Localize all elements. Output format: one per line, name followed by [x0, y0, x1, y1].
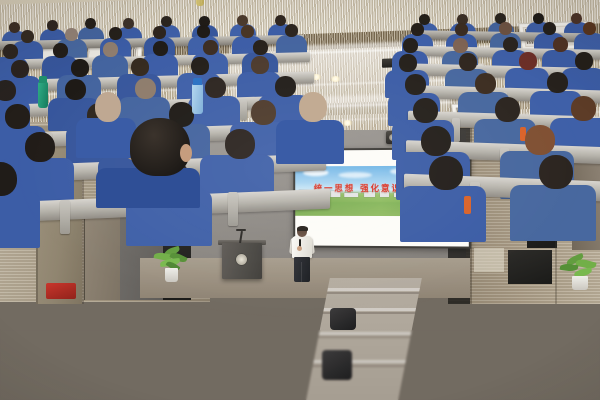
acoustic-panel-right-lower — [508, 250, 552, 284]
potted-plant — [560, 256, 600, 290]
armrest — [500, 148, 509, 150]
presenter-shirt — [292, 236, 312, 258]
side-door-left[interactable] — [84, 208, 122, 300]
green-thermos-bottle — [38, 82, 48, 108]
beverage-cup — [196, 0, 204, 6]
bottle-cap — [39, 76, 47, 83]
presenter — [289, 226, 315, 282]
recessed-downlight — [330, 76, 341, 82]
auditorium-photo: 中国石化集团有限公司 统一思想 强化意识 确保安全 — [0, 0, 600, 400]
water-bottle — [192, 84, 203, 114]
armrest — [240, 100, 247, 120]
red-bag — [46, 283, 76, 299]
potted-plant — [152, 248, 192, 282]
wall-inset-right — [474, 248, 504, 272]
lectern-emblem-icon — [236, 254, 247, 265]
recessed-downlight — [342, 120, 353, 126]
bottle-cap — [193, 78, 202, 85]
